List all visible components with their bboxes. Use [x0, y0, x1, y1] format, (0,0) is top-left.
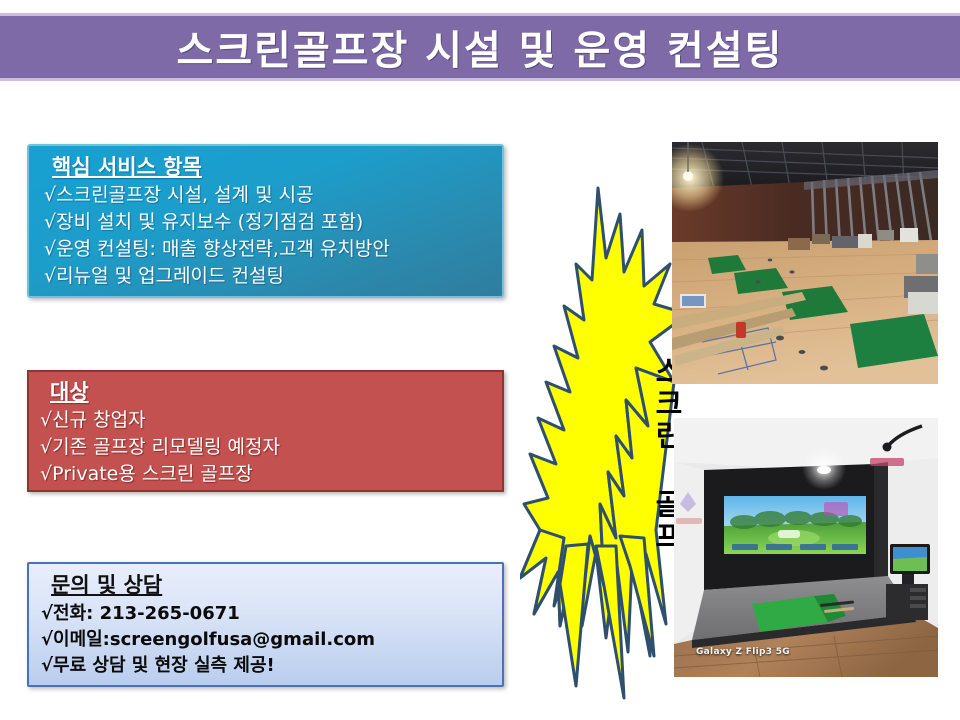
contact-note: √무료 상담 및 현장 실측 제공! — [41, 653, 502, 679]
construction-site-image — [672, 142, 938, 384]
finished-screen-golf-room-photo: Galaxy Z Flip3 5G — [674, 418, 938, 677]
target-audience-heading: 대상 — [50, 376, 502, 406]
screen-golf-burst: 스크린 골프 — [520, 186, 688, 701]
contact-card: 문의 및 상담 √전화: 213-265-0671 √이메일:screengol… — [27, 562, 504, 687]
contact-heading: 문의 및 상담 — [51, 569, 502, 599]
core-services-card: 핵심 서비스 항목 √스크린골프장 시설, 설계 및 시공 √장비 설치 및 유… — [27, 144, 504, 298]
explosion-star-icon — [520, 186, 688, 701]
contact-email: √이메일:screengolfusa@gmail.com — [41, 627, 502, 653]
construction-site-photo — [672, 142, 938, 384]
core-services-heading: 핵심 서비스 항목 — [52, 151, 502, 181]
contact-phone: √전화: 213-265-0671 — [41, 601, 502, 627]
core-services-item: √리뉴얼 및 업그레이드 컨설팅 — [44, 263, 502, 290]
core-services-item: √운영 컨설팅: 매출 향상전략,고객 유치방안 — [44, 236, 502, 263]
target-audience-item: √신규 창업자 — [40, 407, 502, 434]
photo-watermark: Galaxy Z Flip3 5G — [696, 647, 790, 657]
target-audience-card: 대상 √신규 창업자 √기존 골프장 리모델링 예정자 √Private용 스크… — [27, 370, 504, 492]
core-services-item: √스크린골프장 시설, 설계 및 시공 — [44, 182, 502, 209]
target-audience-item: √Private용 스크린 골프장 — [40, 461, 502, 488]
target-audience-item: √기존 골프장 리모델링 예정자 — [40, 434, 502, 461]
screen-golf-room-image — [674, 418, 938, 677]
core-services-item: √장비 설치 및 유지보수 (정기점검 포함) — [44, 209, 502, 236]
page-title: 스크린골프장 시설 및 운영 컨설팅 — [177, 18, 784, 76]
page-title-banner: 스크린골프장 시설 및 운영 컨설팅 — [0, 13, 960, 81]
